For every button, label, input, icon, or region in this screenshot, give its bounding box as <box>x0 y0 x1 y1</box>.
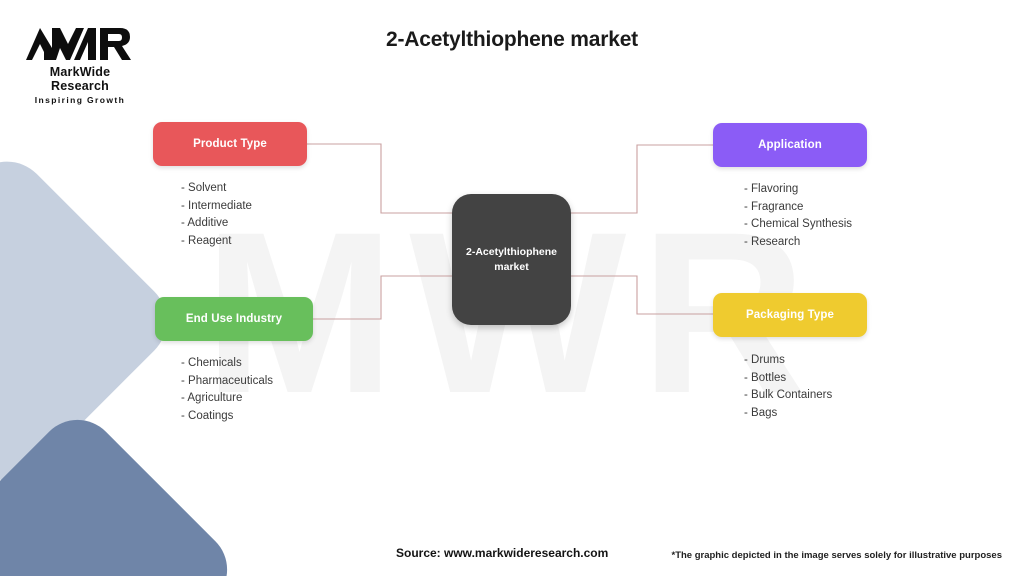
list-item: - Solvent <box>181 180 307 198</box>
list-item: - Chemicals <box>181 355 313 373</box>
branch-header-application[interactable]: Application <box>713 123 867 167</box>
branch-header-product-type[interactable]: Product Type <box>153 122 307 166</box>
branch-end-use-industry[interactable]: End Use Industry - Chemicals - Pharmaceu… <box>155 297 313 425</box>
branch-application[interactable]: Application - Flavoring - Fragrance - Ch… <box>713 123 867 251</box>
list-item: - Intermediate <box>181 198 307 216</box>
list-item: - Flavoring <box>744 181 867 199</box>
branch-title-application: Application <box>758 139 822 151</box>
list-item: - Research <box>744 234 867 252</box>
branch-item-list-packaging-type: - Drums - Bottles - Bulk Containers - Ba… <box>744 352 867 422</box>
center-node-label: 2-Acetylthiophene market <box>460 245 563 275</box>
branch-title-product-type: Product Type <box>193 138 267 150</box>
list-item: - Chemical Synthesis <box>744 216 867 234</box>
branch-title-packaging-type: Packaging Type <box>746 309 834 321</box>
list-item: - Coatings <box>181 408 313 426</box>
branch-packaging-type[interactable]: Packaging Type - Drums - Bottles - Bulk … <box>713 293 867 422</box>
list-item: - Pharmaceuticals <box>181 373 313 391</box>
center-node-label-line2: market <box>494 261 528 273</box>
branch-item-list-product-type: - Solvent - Intermediate - Additive - Re… <box>181 180 307 250</box>
branch-item-list-application: - Flavoring - Fragrance - Chemical Synth… <box>744 181 867 251</box>
list-item: - Agriculture <box>181 390 313 408</box>
connector-product-type <box>307 144 452 213</box>
branch-product-type[interactable]: Product Type - Solvent - Intermediate - … <box>153 122 307 250</box>
list-item: - Bags <box>744 405 867 423</box>
center-node[interactable]: 2-Acetylthiophene market <box>452 194 571 325</box>
list-item: - Fragrance <box>744 199 867 217</box>
branch-header-packaging-type[interactable]: Packaging Type <box>713 293 867 337</box>
list-item: - Drums <box>744 352 867 370</box>
connector-application <box>571 145 713 213</box>
connector-end-use-industry <box>313 276 452 319</box>
diagram-canvas: MWR MarkWide Research Inspiring Growth 2… <box>0 0 1024 576</box>
list-item: - Additive <box>181 215 307 233</box>
list-item: - Bulk Containers <box>744 387 867 405</box>
branch-title-end-use-industry: End Use Industry <box>186 313 282 325</box>
list-item: - Bottles <box>744 370 867 388</box>
center-node-label-line1: 2-Acetylthiophene <box>466 246 557 258</box>
branch-item-list-end-use-industry: - Chemicals - Pharmaceuticals - Agricult… <box>181 355 313 425</box>
list-item: - Reagent <box>181 233 307 251</box>
connector-packaging-type <box>571 276 713 314</box>
branch-header-end-use-industry[interactable]: End Use Industry <box>155 297 313 341</box>
footer-source: Source: www.markwideresearch.com <box>396 546 608 560</box>
footer-disclaimer: *The graphic depicted in the image serve… <box>672 550 1003 561</box>
